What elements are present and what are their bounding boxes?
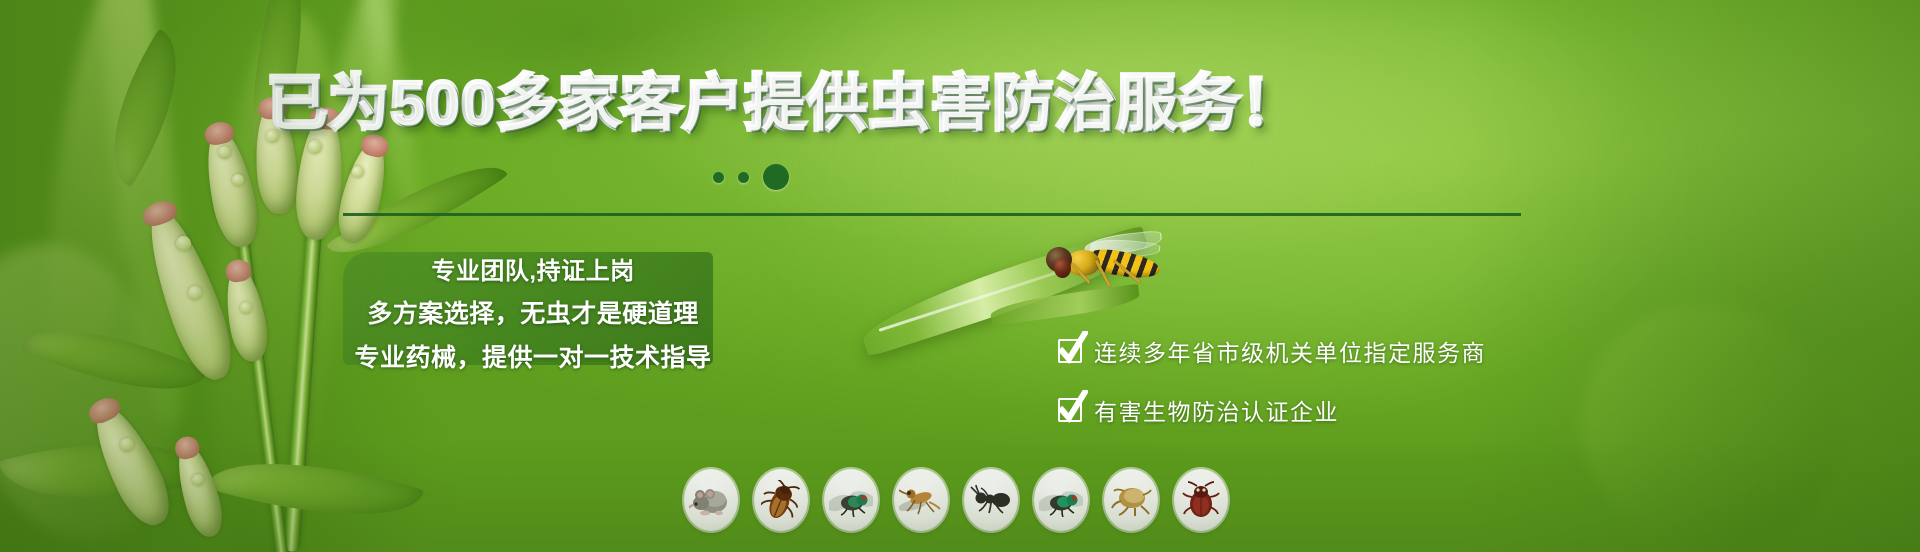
checklist-item: 有害生物防治认证企业 bbox=[1058, 393, 1486, 427]
decor-dot-large-icon bbox=[763, 164, 789, 190]
bedbug-icon[interactable] bbox=[1174, 469, 1228, 531]
plant-bud bbox=[352, 166, 364, 178]
decor-dot-small-icon bbox=[738, 172, 749, 183]
checklist-item: 连续多年省市级机关单位指定服务商 bbox=[1058, 334, 1486, 368]
checkmark-icon bbox=[1058, 339, 1082, 363]
banner-headline: 已为500多家客户提供虫害防治服务！ bbox=[0, 74, 1570, 134]
plant-leaf bbox=[206, 432, 424, 546]
plant-bud bbox=[176, 236, 191, 251]
cockroach-icon[interactable] bbox=[754, 469, 808, 531]
checkmark-icon bbox=[1058, 398, 1082, 422]
checklist-item-label: 有害生物防治认证企业 bbox=[1094, 393, 1339, 427]
decor-dot-small-icon bbox=[713, 172, 724, 183]
rodent-icon[interactable] bbox=[684, 469, 738, 531]
flea-icon[interactable] bbox=[1104, 469, 1158, 531]
hoverfly-photo bbox=[1040, 238, 1170, 306]
plant-bud bbox=[232, 174, 244, 186]
selling-points-text-group: 专业团队,持证上岗 多方案选择，无虫才是硬道理 专业药械，提供一对一技术指导 bbox=[343, 250, 723, 375]
pest-type-icon-row bbox=[684, 469, 1228, 531]
plant-bud bbox=[120, 438, 134, 452]
horizontal-divider bbox=[343, 213, 1521, 216]
fly-icon[interactable] bbox=[824, 469, 878, 531]
checklist-item-label: 连续多年省市级机关单位指定服务商 bbox=[1094, 334, 1486, 368]
selling-point-line-2: 多方案选择，无虫才是硬道理 bbox=[367, 294, 699, 330]
hoverfly-head bbox=[1046, 247, 1072, 272]
plant-bud bbox=[240, 302, 252, 314]
plant-bud bbox=[188, 286, 202, 300]
promo-banner: 已为500多家客户提供虫害防治服务！ 专业团队,持证上岗 多方案选择，无虫才是硬… bbox=[0, 0, 1920, 552]
selling-point-line-1: 专业团队,持证上岗 bbox=[431, 251, 634, 286]
headline-dot-decoration bbox=[713, 164, 789, 190]
plant-bud bbox=[192, 474, 204, 486]
banner-headline-text: 已为500多家客户提供虫害防治服务！ bbox=[267, 70, 1303, 137]
selling-point-line-3: 专业药械，提供一对一技术指导 bbox=[354, 338, 711, 374]
plant-bud bbox=[308, 140, 322, 154]
blowfly-icon[interactable] bbox=[1034, 469, 1088, 531]
mosquito-icon[interactable] bbox=[894, 469, 948, 531]
credentials-checklist: 连续多年省市级机关单位指定服务商 有害生物防治认证企业 bbox=[1058, 334, 1486, 427]
hoverfly-eye bbox=[1054, 258, 1071, 278]
plant-bud bbox=[218, 146, 231, 159]
ant-icon[interactable] bbox=[964, 469, 1018, 531]
